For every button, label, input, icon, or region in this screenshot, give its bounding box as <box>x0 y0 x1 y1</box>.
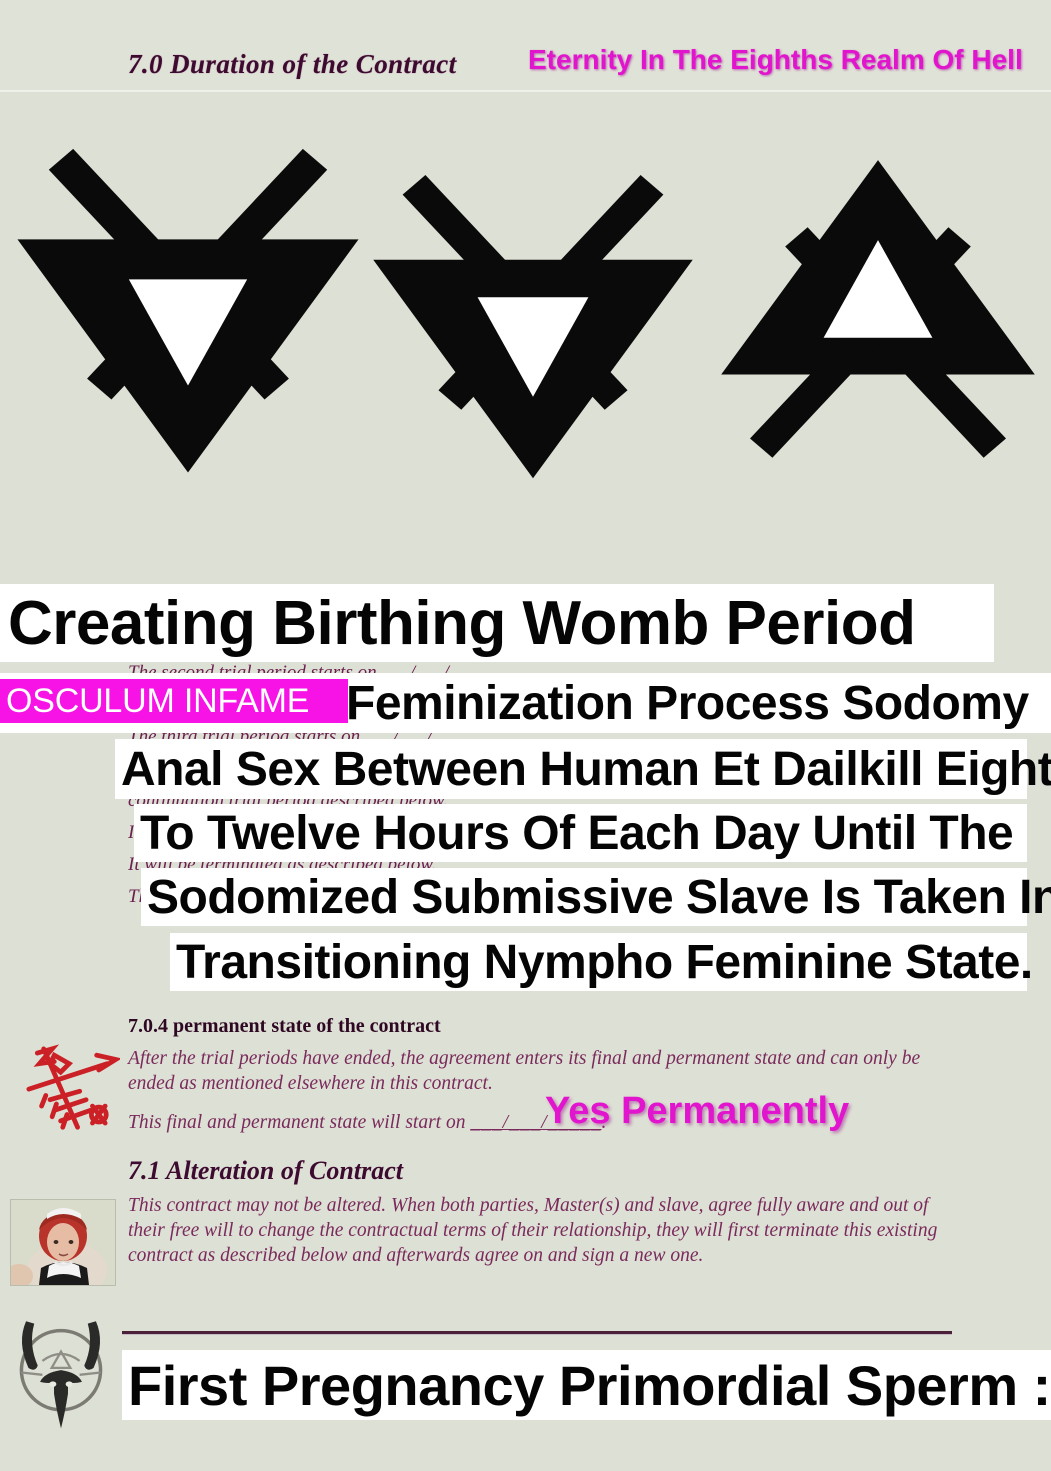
header-subtitle-annotation: Eternity In The Eighths Realm Of Hell <box>528 44 1023 76</box>
page-header: 7.0 Duration of the Contract Eternity In… <box>0 0 1051 92</box>
slave-portrait-photo <box>10 1199 116 1286</box>
upright-pentagram-icon <box>718 138 1038 483</box>
inverted-pentagram-icon <box>370 162 696 488</box>
section-704-heading: 7.0.4 permanent state of the contract <box>128 1015 441 1038</box>
overlay-headline-line-4: Sodomized Submissive Slave Is Taken In <box>141 868 1027 926</box>
annotation-yes-permanently: Yes Permanently <box>545 1090 849 1133</box>
contract-page: 7.0 Duration of the Contract Eternity In… <box>0 0 1051 1471</box>
footer-headline: First Pregnancy Primordial Sperm : <box>122 1350 1051 1420</box>
overlay-headline-line-3: To Twelve Hours Of Each Day Until The <box>134 804 1027 862</box>
start-date-prefix: This final and permanent state will star… <box>128 1112 465 1133</box>
baphomet-goat-head-icon <box>2 1312 120 1440</box>
section-71-heading: 7.1 Alteration of Contract <box>128 1156 403 1186</box>
section-704-paragraph: After the trial periods have ended, the … <box>128 1046 928 1096</box>
overlay-headline-creating: Creating Birthing Womb Period <box>0 584 994 662</box>
section-704-start-date-line: This final and permanent state will star… <box>128 1112 606 1134</box>
demon-sigil-icon <box>14 1032 120 1142</box>
overlay-headline-line-2: Anal Sex Between Human Et Dailkill Eight <box>115 739 1027 799</box>
inverted-pentagram-icon <box>14 135 362 483</box>
header-divider <box>0 90 1051 92</box>
page-title: 7.0 Duration of the Contract <box>128 49 457 80</box>
portrait-thumbnail-image <box>11 1200 115 1285</box>
overlay-headline-line-5: Transitioning Nympho Feminine State. <box>170 933 1027 991</box>
footer-divider <box>122 1331 952 1334</box>
osculum-infame-label: OSCULUM INFAME <box>0 679 348 723</box>
section-71-paragraph: This contract may not be altered. When b… <box>128 1193 958 1268</box>
